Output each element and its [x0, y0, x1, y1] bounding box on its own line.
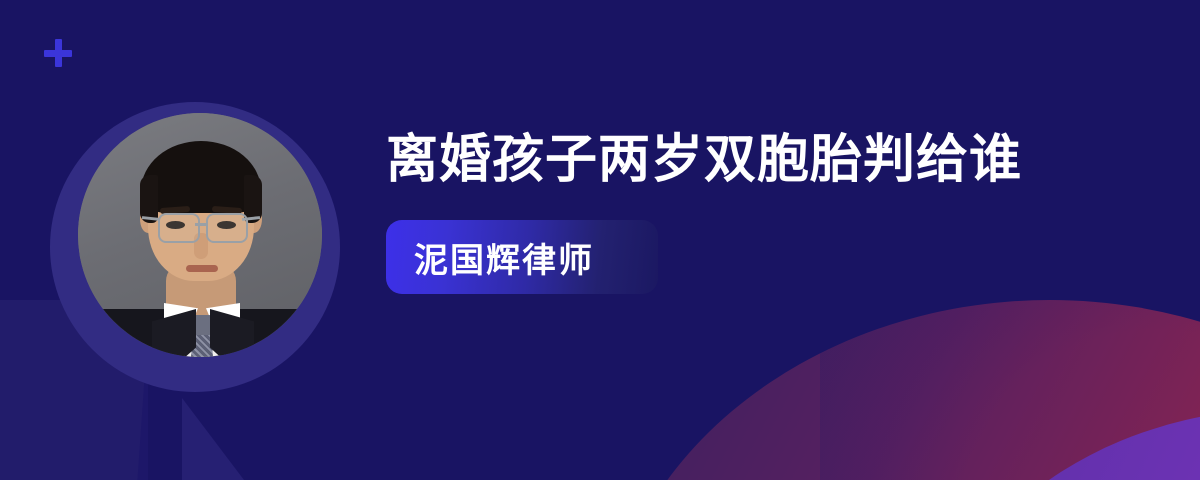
glasses-bridge-icon [195, 223, 207, 226]
decorative-triangle-shape [182, 398, 244, 480]
plus-icon [44, 39, 72, 67]
plus-icon-vertical-bar [55, 39, 62, 67]
lawyer-name-button[interactable]: 泥国辉律师 [386, 220, 658, 294]
portrait-mouth [186, 265, 218, 272]
avatar [50, 102, 340, 392]
glasses-lens-right-icon [206, 213, 248, 243]
glasses-lens-left-icon [158, 213, 200, 243]
article-cover-banner: 离婚孩子两岁双胞胎判给谁 泥国辉律师 [0, 0, 1200, 480]
content-block: 离婚孩子两岁双胞胎判给谁 泥国辉律师 [386, 122, 1176, 294]
page-title: 离婚孩子两岁双胞胎判给谁 [386, 122, 1026, 198]
avatar-photo [78, 113, 322, 357]
